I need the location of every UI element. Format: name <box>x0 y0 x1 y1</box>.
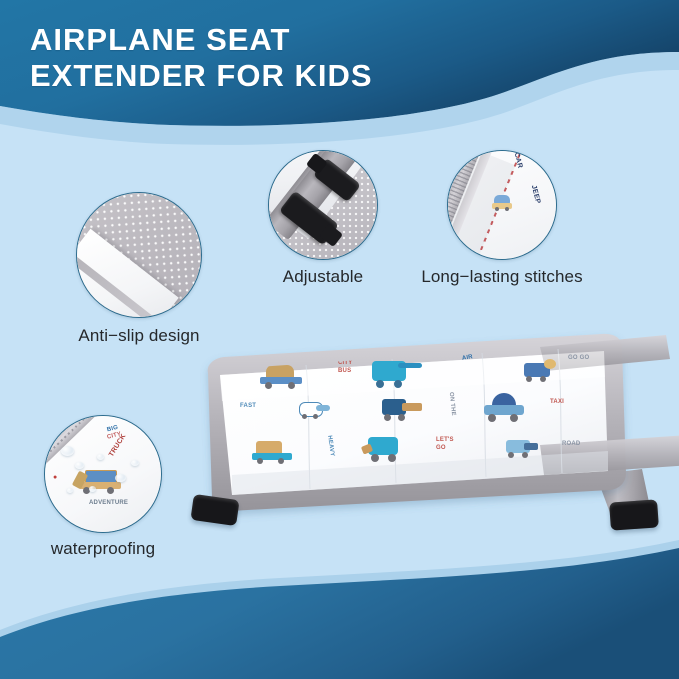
feature-waterproofing-label: waterproofing <box>51 539 155 559</box>
feature-waterproofing: BIG CITY TRUCK ADVENTURE ● <box>44 415 162 533</box>
footer-band <box>0 548 679 679</box>
feature-long-lasting-stitches: CAR JEEP Long−lasting stitches <box>447 150 557 260</box>
feature-long-lasting-stitches-image: CAR JEEP <box>447 150 557 260</box>
infographic-canvas: AIRPLANE SEAT EXTENDER FOR KIDS Anti−sli… <box>0 0 679 679</box>
product-buckle-right <box>609 499 659 530</box>
header-band <box>0 0 679 126</box>
feature-anti-slip-image <box>76 192 202 318</box>
feature-anti-slip: Anti−slip design <box>76 192 202 318</box>
product-image: CITY BUS AIR GO GO FAST <box>110 325 679 555</box>
feature-waterproofing-image: BIG CITY TRUCK ADVENTURE ● <box>44 415 162 533</box>
feature-adjustable-label: Adjustable <box>283 267 363 287</box>
feature-anti-slip-label: Anti−slip design <box>78 326 199 346</box>
feature-adjustable-image <box>268 150 378 260</box>
feature-adjustable: Adjustable <box>268 150 378 260</box>
feature-long-lasting-stitches-label: Long−lasting stitches <box>421 267 582 287</box>
